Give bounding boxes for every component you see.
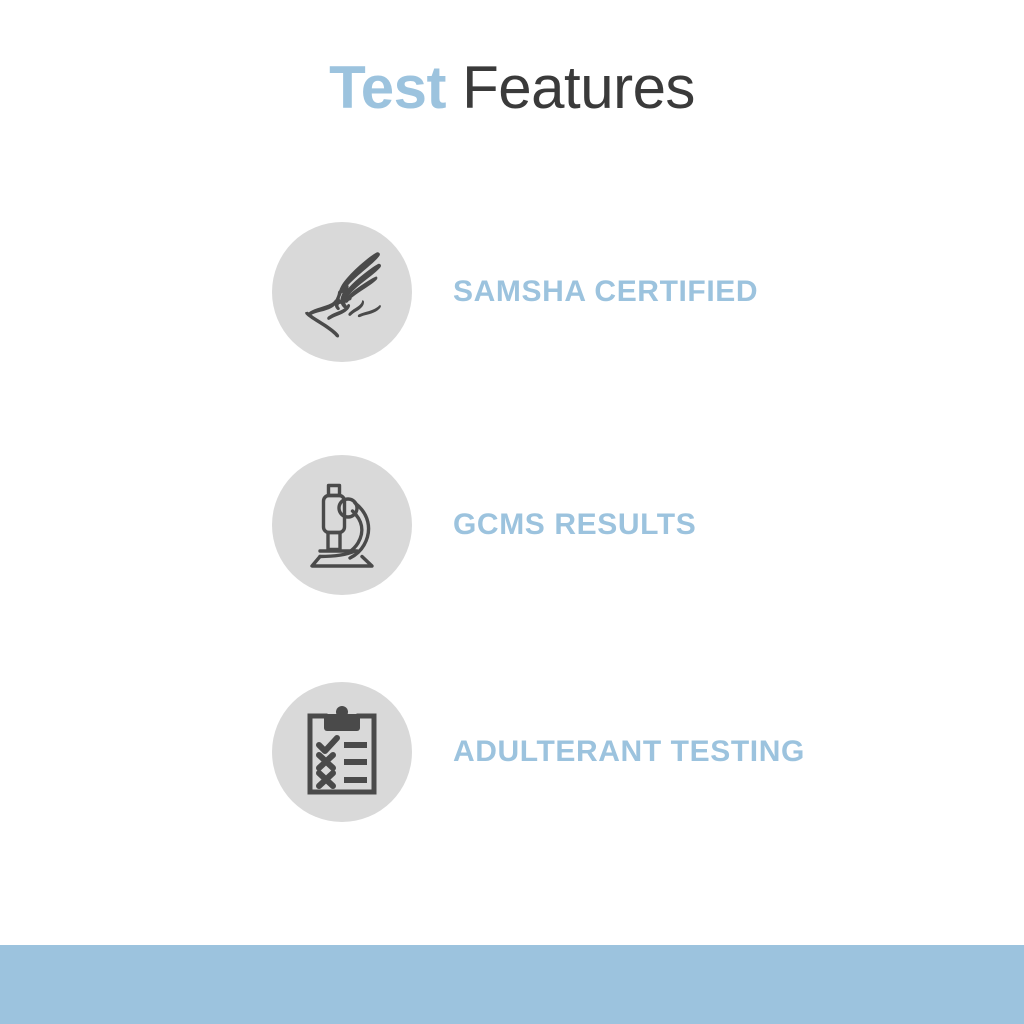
feature-label: ADULTERANT TESTING — [453, 735, 805, 769]
icon-badge — [272, 222, 412, 362]
feature-label: SAMSHA CERTIFIED — [453, 275, 758, 309]
feature-label: GCMS RESULTS — [453, 508, 696, 542]
footer-accent-bar — [0, 945, 1024, 1024]
feature-list: SAMSHA CERTIFIED — [0, 0, 1024, 1024]
hhs-eagle-icon — [292, 242, 392, 342]
icon-badge — [272, 455, 412, 595]
feature-item-adulterant-testing[interactable]: ADULTERANT TESTING — [272, 682, 972, 822]
microscope-icon — [294, 477, 390, 573]
icon-badge — [272, 682, 412, 822]
feature-item-gcms-results[interactable]: GCMS RESULTS — [272, 455, 972, 595]
feature-item-samsha-certified[interactable]: SAMSHA CERTIFIED — [272, 222, 972, 362]
clipboard-checklist-icon — [297, 704, 387, 800]
